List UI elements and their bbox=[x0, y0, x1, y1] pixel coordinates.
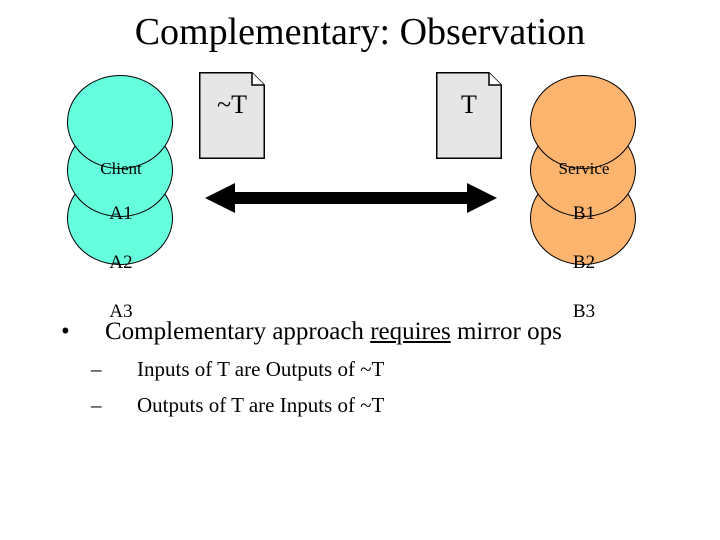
sub-bullet-marker-icon: – bbox=[91, 354, 102, 384]
left-document-shape[interactable]: ~T bbox=[199, 72, 265, 159]
service-circle-stack[interactable]: Service B1 B2 B3 bbox=[530, 75, 638, 265]
client-circle-a1[interactable] bbox=[67, 75, 173, 169]
right-document-shape[interactable]: T bbox=[436, 72, 502, 159]
sub-bullet-text-1: Inputs of T are Outputs of ~T bbox=[137, 357, 384, 381]
page-title: Complementary: Observation bbox=[0, 10, 720, 54]
slide-canvas: Complementary: Observation Client A1 A2 … bbox=[0, 0, 720, 540]
double-headed-arrow-icon bbox=[205, 180, 497, 216]
service-stack-header-label: Service bbox=[530, 159, 638, 179]
service-circle-b1[interactable] bbox=[530, 75, 636, 169]
service-stack-label-b2: B2 bbox=[530, 252, 638, 274]
right-document-label: T bbox=[436, 92, 502, 118]
sub-bullet-item-1: – Inputs of T are Outputs of ~T bbox=[55, 354, 675, 384]
sub-bullet-item-2: – Outputs of T are Inputs of ~T bbox=[55, 390, 675, 420]
client-stack-label-a3: A3 bbox=[67, 301, 175, 323]
body-text-block: • Complementary approach requires mirror… bbox=[55, 316, 675, 420]
service-stack-label-b3: B3 bbox=[530, 301, 638, 323]
client-stack-label-a2: A2 bbox=[67, 252, 175, 274]
bullet-main-emphasis: requires bbox=[370, 318, 451, 345]
client-stack-label-a1: A1 bbox=[67, 203, 175, 225]
left-document-label: ~T bbox=[199, 92, 265, 118]
service-stack-label-b1: B1 bbox=[530, 203, 638, 225]
sub-bullet-text-2: Outputs of T are Inputs of ~T bbox=[137, 393, 384, 417]
client-circle-stack[interactable]: Client A1 A2 A3 bbox=[67, 75, 175, 265]
sub-bullet-marker-icon: – bbox=[91, 390, 102, 420]
client-stack-header-label: Client bbox=[67, 159, 175, 179]
